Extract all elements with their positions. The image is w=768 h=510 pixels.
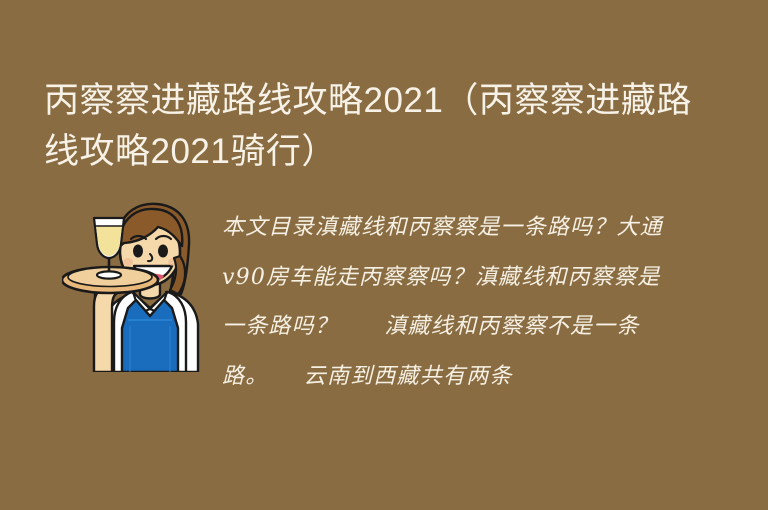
waitress-with-tray-illustration xyxy=(62,196,210,372)
article-body-text: 本文目录滇藏线和丙察察是一条路吗？大通v90房车能走丙察察吗？滇藏线和丙察察是一… xyxy=(222,203,670,401)
article-page: 丙察察进藏路线攻略2021（丙察察进藏路线攻略2021骑行） xyxy=(0,0,768,510)
page-title: 丙察察进藏路线攻略2021（丙察察进藏路线攻略2021骑行） xyxy=(44,75,704,177)
